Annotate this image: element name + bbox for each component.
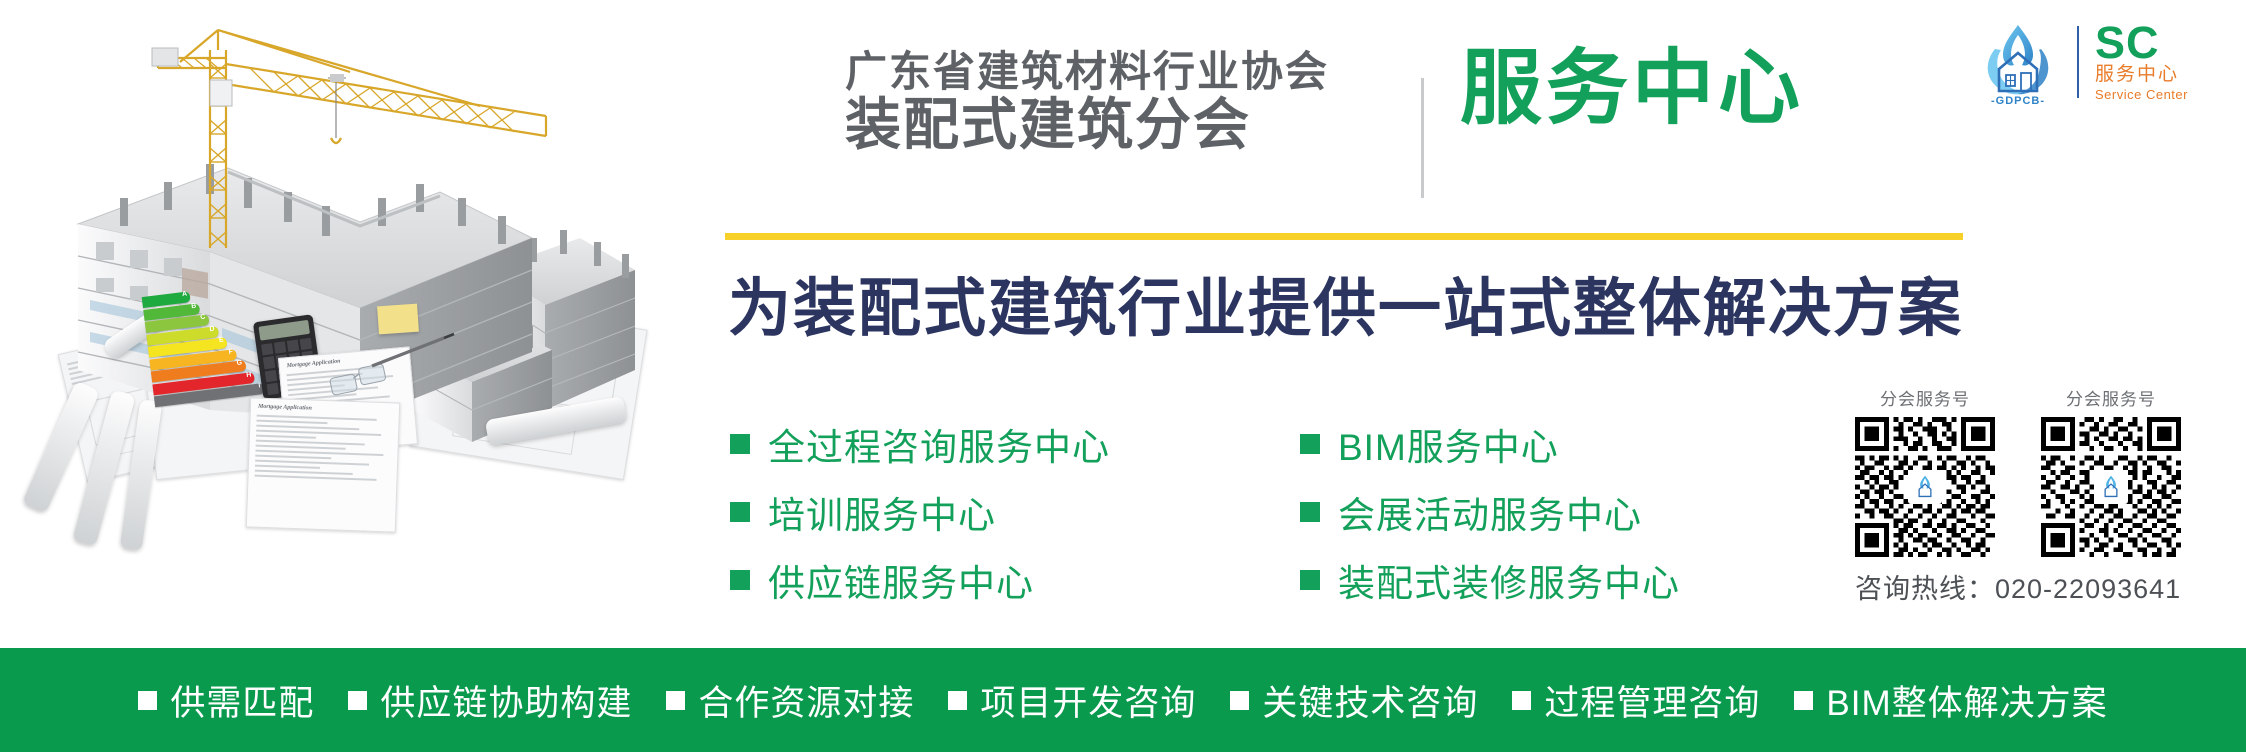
service-list-left: 全过程咨询服务中心 培训服务中心 供应链服务中心 xyxy=(730,410,1110,614)
footer-item[interactable]: 供需匹配 xyxy=(138,675,314,726)
document-title: Mortgage Application xyxy=(258,404,312,412)
brand-logo: -GDPCB- SC 服务中心 Service Center xyxy=(1975,14,2235,110)
footer-item-label: 供需匹配 xyxy=(170,675,314,726)
gdpcb-house-flame-icon: -GDPCB- xyxy=(1975,19,2061,105)
document-title: Mortgage Application xyxy=(286,359,340,370)
qr-embedded-logo-icon xyxy=(2094,470,2128,504)
service-item[interactable]: 供应链服务中心 xyxy=(730,546,1110,614)
footer-item[interactable]: 项目开发咨询 xyxy=(948,675,1196,726)
service-item-label: 会展活动服务中心 xyxy=(1338,485,1642,539)
service-item[interactable]: 培训服务中心 xyxy=(730,478,1110,546)
sticky-note xyxy=(377,304,419,335)
footer-item-label: 合作资源对接 xyxy=(698,675,914,726)
footer-item-label: 项目开发咨询 xyxy=(980,675,1196,726)
association-name-line1: 广东省建筑材料行业协会 xyxy=(845,50,1329,94)
bullet-square-icon xyxy=(348,691,367,710)
service-item-label: BIM服务中心 xyxy=(1338,417,1559,471)
bullet-square-icon xyxy=(730,570,750,590)
header-divider xyxy=(1421,78,1424,198)
bullet-square-icon xyxy=(730,434,750,454)
bullet-square-icon xyxy=(1300,570,1320,590)
logo-cn-text: 服务中心 xyxy=(2095,64,2188,87)
qr-code-image[interactable] xyxy=(1855,417,1995,557)
logo-divider xyxy=(2077,26,2079,98)
hotline-text: 咨询热线：020-22093641 xyxy=(1855,567,2235,606)
bullet-square-icon xyxy=(1794,691,1813,710)
service-list-right: BIM服务中心 会展活动服务中心 装配式装修服务中心 xyxy=(1300,410,1680,614)
service-item-label: 供应链服务中心 xyxy=(768,553,1034,607)
footer-item-label: 关键技术咨询 xyxy=(1262,675,1478,726)
footer-item[interactable]: 关键技术咨询 xyxy=(1230,675,1478,726)
application-document: Mortgage Application xyxy=(246,397,400,532)
gold-divider-rule xyxy=(725,233,1963,240)
hero-illustration: A B C D E F G H I Mortgage Application xyxy=(0,0,700,650)
bullet-square-icon xyxy=(1300,502,1320,522)
service-item[interactable]: BIM服务中心 xyxy=(1300,410,1680,478)
gdpcb-caption: -GDPCB- xyxy=(1975,95,2061,107)
footer-item-label: 过程管理咨询 xyxy=(1544,675,1760,726)
qr-embedded-logo-icon xyxy=(1908,470,1942,504)
service-item-label: 全过程咨询服务中心 xyxy=(768,417,1110,471)
page-tagline: 为装配式建筑行业提供一站式整体解决方案 xyxy=(728,258,1963,349)
qr-contact-block: 分会服务号 xyxy=(1855,385,2235,606)
qr-caption: 分会服务号 xyxy=(2041,385,2181,410)
tower-crane-icon xyxy=(150,20,570,240)
bullet-square-icon xyxy=(138,691,157,710)
footer-item[interactable]: 过程管理咨询 xyxy=(1512,675,1760,726)
service-item-label: 培训服务中心 xyxy=(768,485,996,539)
footer-item[interactable]: 供应链协助构建 xyxy=(348,675,632,726)
bullet-square-icon xyxy=(1300,434,1320,454)
logo-en-text: Service Center xyxy=(2095,87,2188,102)
pen xyxy=(368,332,458,372)
association-name-line2: 装配式建筑分会 xyxy=(845,96,1329,155)
footer-item-label: 供应链协助构建 xyxy=(380,675,632,726)
bullet-square-icon xyxy=(730,502,750,522)
service-item[interactable]: 装配式装修服务中心 xyxy=(1300,546,1680,614)
bullet-square-icon xyxy=(948,691,967,710)
footer-service-bar: 供需匹配 供应链协助构建 合作资源对接 项目开发咨询 关键技术咨询 过程管理咨询… xyxy=(0,648,2246,752)
bullet-square-icon xyxy=(1512,691,1531,710)
footer-item[interactable]: 合作资源对接 xyxy=(666,675,914,726)
qr-caption: 分会服务号 xyxy=(1855,385,1995,410)
qr-code-image[interactable] xyxy=(2041,417,2181,557)
bullet-square-icon xyxy=(1230,691,1249,710)
logo-sc-text: SC xyxy=(2095,22,2188,65)
qr-cell[interactable]: 分会服务号 xyxy=(2041,385,2181,557)
energy-rating-chart: A B C D E F G H I xyxy=(142,284,265,407)
service-item[interactable]: 会展活动服务中心 xyxy=(1300,478,1680,546)
qr-cell[interactable]: 分会服务号 xyxy=(1855,385,1995,557)
bullet-square-icon xyxy=(666,691,685,710)
footer-item[interactable]: BIM整体解决方案 xyxy=(1794,675,2107,726)
footer-item-label: BIM整体解决方案 xyxy=(1826,675,2107,726)
banner-root: A B C D E F G H I Mortgage Application xyxy=(0,0,2246,752)
service-item-label: 装配式装修服务中心 xyxy=(1338,553,1680,607)
service-item[interactable]: 全过程咨询服务中心 xyxy=(730,410,1110,478)
service-center-title: 服务中心 xyxy=(1460,48,1804,130)
association-name-block: 广东省建筑材料行业协会 装配式建筑分会 xyxy=(845,50,1329,155)
